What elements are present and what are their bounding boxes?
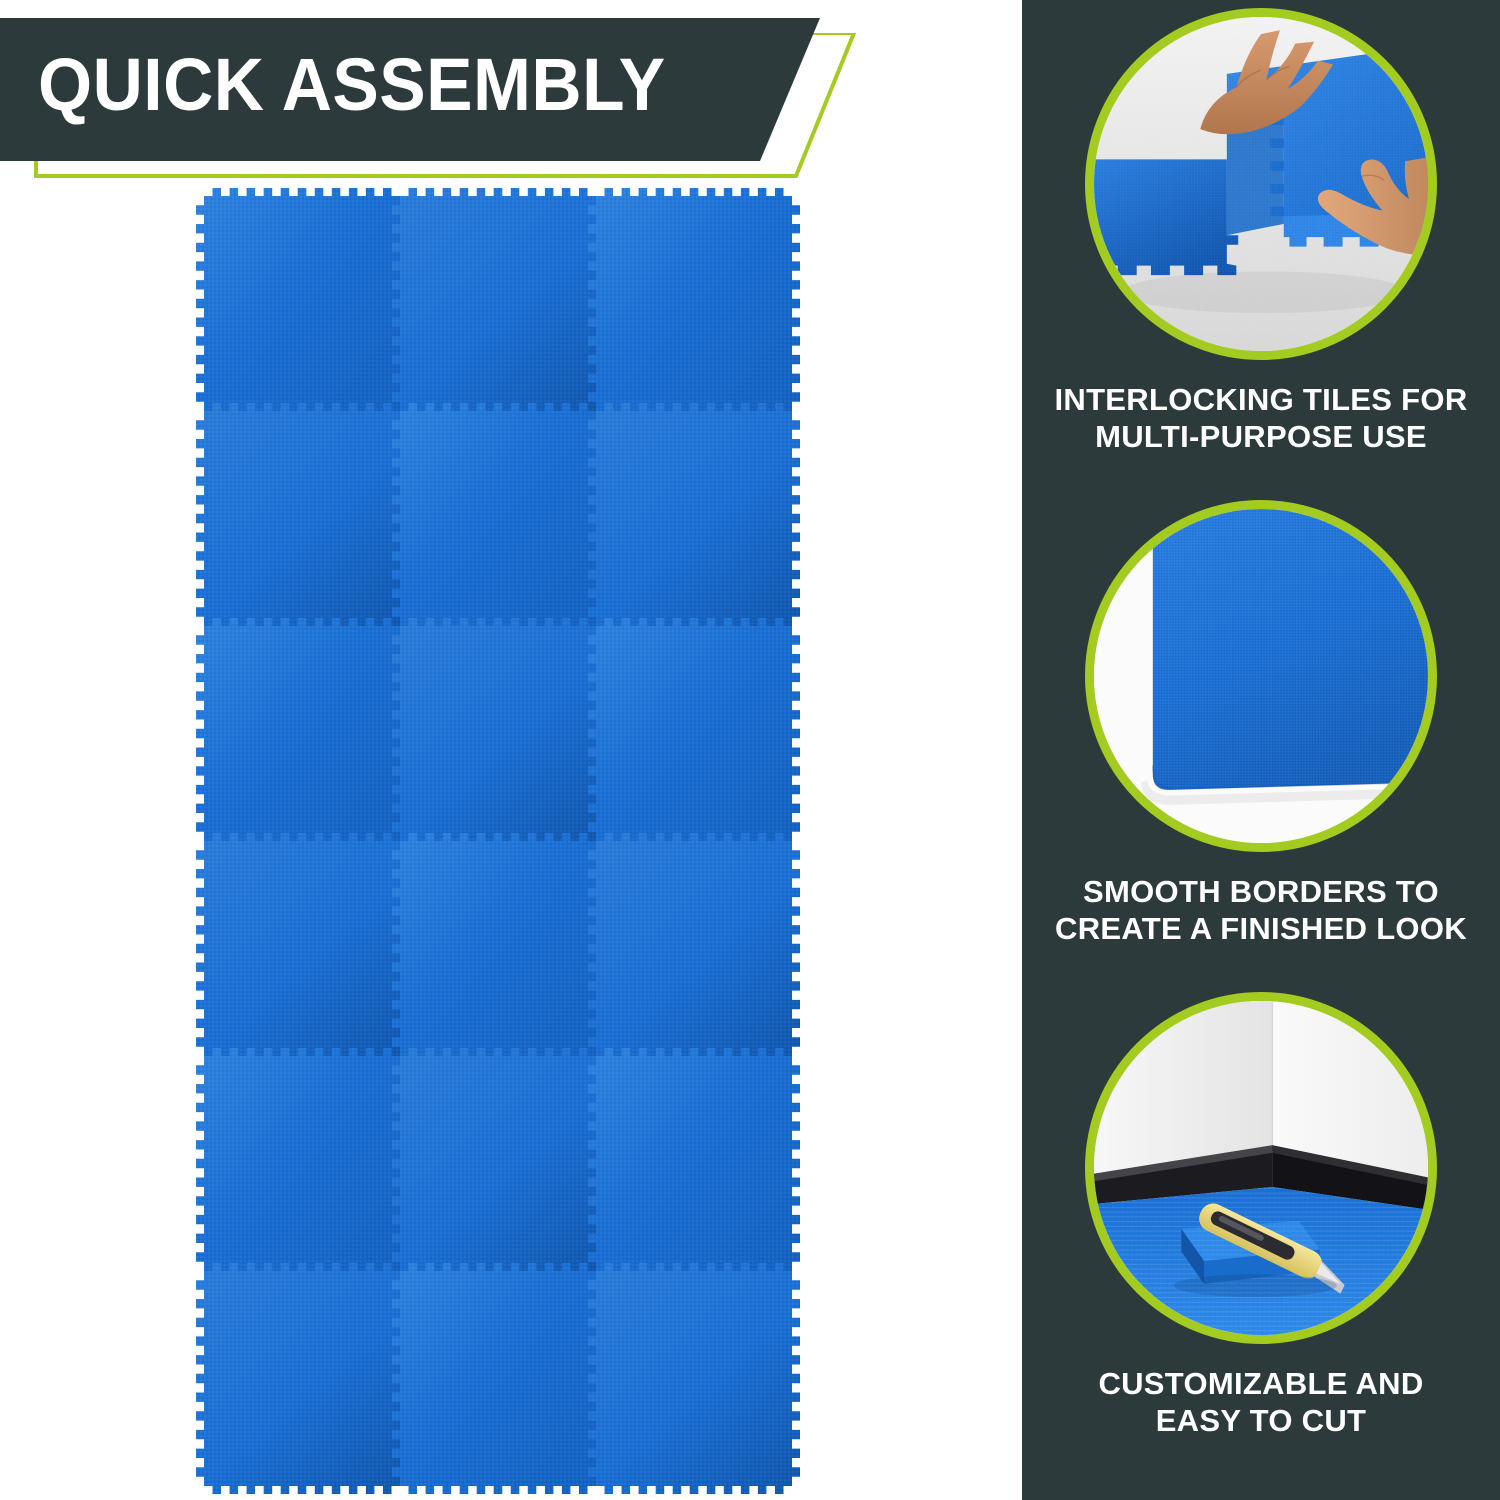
foam-tile <box>588 1263 800 1494</box>
hands-joining-interlocking-tiles-photo <box>1085 8 1437 360</box>
product-feature-graphic: QUICK ASSEMBLY <box>0 0 1500 1500</box>
foam-tile <box>196 833 408 1064</box>
foam-tile <box>588 188 800 419</box>
blue-tile-smooth-border-photo <box>1085 500 1437 852</box>
foam-tile <box>392 1048 604 1279</box>
caption-line: CREATE A FINISHED LOOK <box>1036 911 1486 948</box>
left-panel: QUICK ASSEMBLY <box>0 0 1022 1500</box>
header-banner: QUICK ASSEMBLY <box>0 18 840 163</box>
foam-tile <box>588 403 800 634</box>
foam-tile <box>196 1263 408 1494</box>
caption-line: INTERLOCKING TILES FOR <box>1036 382 1486 419</box>
foam-tile <box>588 833 800 1064</box>
foam-tile <box>392 188 604 419</box>
feature-block-interlocking: INTERLOCKING TILES FOR MULTI-PURPOSE USE <box>1022 8 1500 455</box>
foam-tile <box>196 188 408 419</box>
feature-caption-customizable: CUSTOMIZABLE AND EASY TO CUT <box>1022 1366 1500 1439</box>
feature-caption-interlocking: INTERLOCKING TILES FOR MULTI-PURPOSE USE <box>1022 382 1500 455</box>
foam-tile <box>392 833 604 1064</box>
tile-grid <box>196 188 826 1500</box>
feature-block-smooth-borders: SMOOTH BORDERS TO CREATE A FINISHED LOOK <box>1022 500 1500 947</box>
foam-tile <box>392 618 604 849</box>
right-panel: INTERLOCKING TILES FOR MULTI-PURPOSE USE <box>1022 0 1500 1500</box>
foam-tile <box>392 403 604 634</box>
foam-tile <box>196 1048 408 1279</box>
caption-line: MULTI-PURPOSE USE <box>1036 419 1486 456</box>
foam-tile <box>588 618 800 849</box>
foam-tile <box>196 403 408 634</box>
foam-tile <box>588 1048 800 1279</box>
feature-caption-smooth-borders: SMOOTH BORDERS TO CREATE A FINISHED LOOK <box>1022 874 1500 947</box>
foam-tile <box>196 618 408 849</box>
caption-line: CUSTOMIZABLE AND <box>1036 1366 1486 1403</box>
caption-line: SMOOTH BORDERS TO <box>1036 874 1486 911</box>
page-title: QUICK ASSEMBLY <box>38 42 666 127</box>
feature-block-customizable: CUSTOMIZABLE AND EASY TO CUT <box>1022 992 1500 1439</box>
utility-knife-cutting-tile-in-room-corner-photo <box>1085 992 1437 1344</box>
foam-tile <box>392 1263 604 1494</box>
caption-line: EASY TO CUT <box>1036 1403 1486 1440</box>
